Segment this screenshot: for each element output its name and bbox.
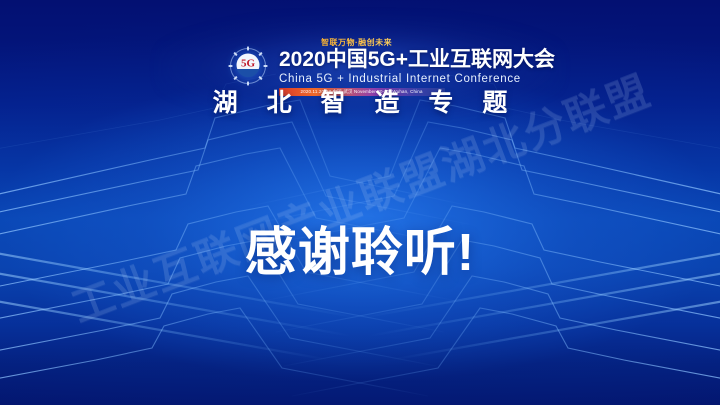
thank-you-message: 感谢聆听! xyxy=(0,222,720,284)
conference-gear-emblem: 5G xyxy=(224,42,272,90)
conference-main-title: 2020中国5G+工业互联网大会 xyxy=(279,48,555,71)
title-stack: 智联万物·融创未来 2020中国5G+工业互联网大会 China 5G + In… xyxy=(279,36,555,96)
conference-tagline: 智联万物·融创未来 xyxy=(321,38,555,48)
conference-english-title: China 5G + Industrial Internet Conferenc… xyxy=(279,72,555,86)
slide-subtitle: 湖 北 智 造 专 题 xyxy=(0,88,720,118)
emblem-5g-text: 5G xyxy=(241,58,256,70)
conference-logo-lockup: 5G 智联万物·融创未来 2020中国5G+工业互联网大会 China 5G +… xyxy=(224,36,555,96)
header-banner: 5G 智联万物·融创未来 2020中国5G+工业互联网大会 China 5G +… xyxy=(0,0,720,132)
presentation-slide: 工业互联网产业联盟湖北分联盟 xyxy=(0,0,720,405)
